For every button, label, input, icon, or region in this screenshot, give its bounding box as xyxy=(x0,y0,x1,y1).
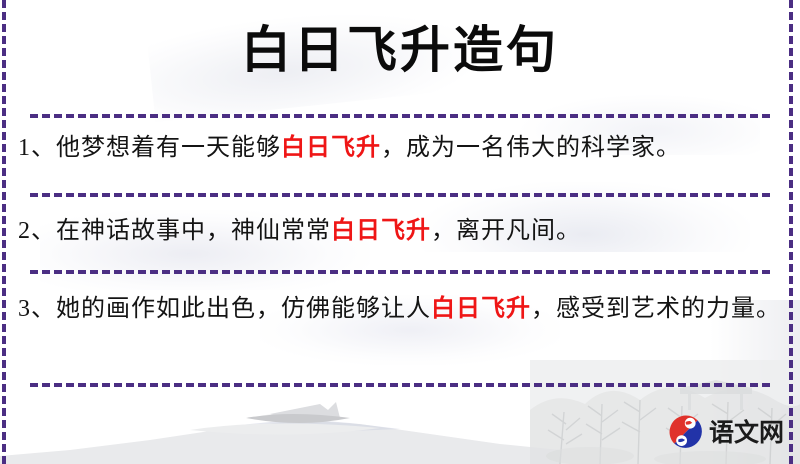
taiji-fish-icon xyxy=(668,414,704,450)
right-dashed-border xyxy=(789,0,793,464)
boat-watermark xyxy=(150,388,450,448)
sentence-3-keyword: 白日飞升 xyxy=(431,296,531,322)
sentence-item-3: 3、她的画作如此出色，仿佛能够让人白日飞升，感受到艺术的力量。 xyxy=(18,289,786,329)
site-logo-text: 语文网 xyxy=(709,420,784,445)
sentence-1-after: ，成为一名伟大的科学家。 xyxy=(381,135,681,161)
sentence-2-index: 2、 xyxy=(18,218,56,244)
sentence-1-index: 1、 xyxy=(18,135,56,161)
sentence-3-before: 她的画作如此出色，仿佛能够让人 xyxy=(56,296,431,322)
sentence-card-page: 白日飞升造句 1、他梦想着有一天能够白日飞升，成为一名伟大的科学家。 2、在神话… xyxy=(0,0,800,464)
sentence-2-keyword: 白日飞升 xyxy=(331,218,431,244)
divider-rule-2 xyxy=(30,193,770,197)
page-title: 白日飞升造句 xyxy=(0,22,800,77)
sentence-2-after: ，离开凡间。 xyxy=(431,218,581,244)
sentence-3-index: 3、 xyxy=(18,296,56,322)
sentence-1-before: 他梦想着有一天能够 xyxy=(56,135,281,161)
divider-rule-4 xyxy=(30,383,770,387)
mountain-ridge-watermark xyxy=(0,398,560,464)
sentence-item-1: 1、他梦想着有一天能够白日飞升，成为一名伟大的科学家。 xyxy=(18,128,786,168)
site-logo[interactable]: 语文网 xyxy=(668,414,784,450)
divider-rule-3 xyxy=(30,270,770,274)
divider-rule-1 xyxy=(30,114,770,118)
sentence-1-keyword: 白日飞升 xyxy=(281,135,381,161)
sentence-item-2: 2、在神话故事中，神仙常常白日飞升，离开凡间。 xyxy=(18,211,786,251)
left-dashed-border xyxy=(2,0,6,464)
sentence-3-after: ，感受到艺术的力量。 xyxy=(531,296,781,322)
sentence-2-before: 在神话故事中，神仙常常 xyxy=(56,218,331,244)
